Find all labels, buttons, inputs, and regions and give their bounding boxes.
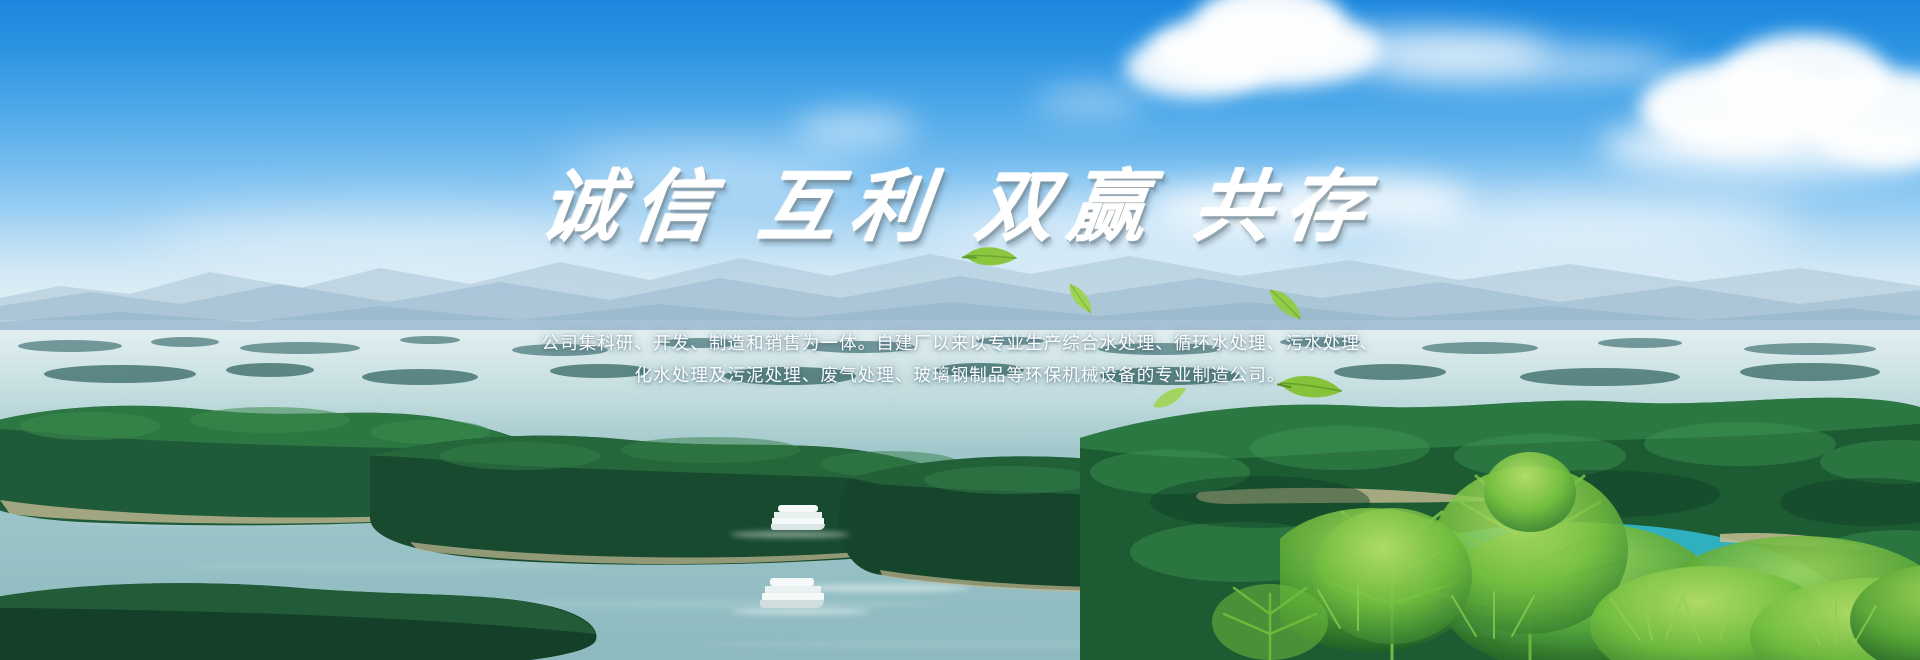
pine-foliage-foreground bbox=[1280, 430, 1920, 660]
ferry-boat-upper bbox=[770, 505, 828, 535]
pine-sprig-left bbox=[1180, 560, 1360, 660]
island-bottom-left bbox=[0, 560, 600, 660]
ferry-boat-lower bbox=[760, 578, 826, 612]
hero-banner: 诚信 互利 双赢 共存 公司集科研、开发、制造和销售为一体。自建厂以来以专业生产… bbox=[0, 0, 1920, 660]
